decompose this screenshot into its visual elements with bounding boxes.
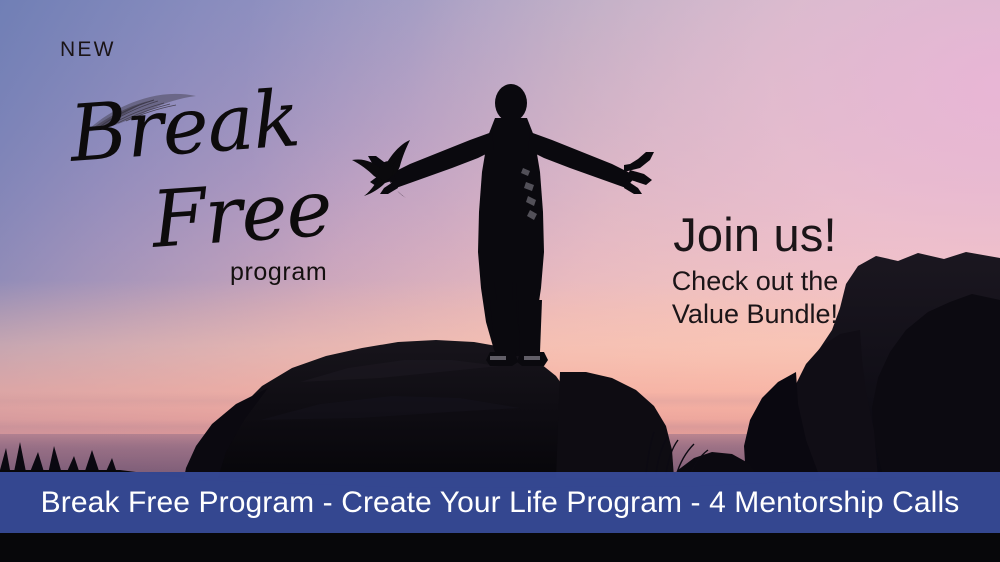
poster-canvas: NEW Break Free program [0,0,1000,562]
new-badge: NEW [60,38,116,62]
flying-bird-icon [348,138,420,204]
main-rock [184,340,674,478]
logo-subtitle: program [230,258,327,287]
join-subline-2: Value Bundle! [640,298,870,331]
logo-line-2: Free [149,170,334,260]
bottom-banner: Break Free Program - Create Your Life Pr… [0,472,1000,533]
logo-line-1: Break [67,80,301,174]
join-headline: Join us! [640,210,870,259]
brand-logo: NEW Break Free program [52,30,382,270]
join-subline-1: Check out the [640,265,870,298]
join-callout: Join us! Check out the Value Bundle! [640,210,870,331]
bottom-black-strip [0,533,1000,562]
person-silhouette [368,84,654,366]
banner-text: Break Free Program - Create Your Life Pr… [41,486,960,520]
